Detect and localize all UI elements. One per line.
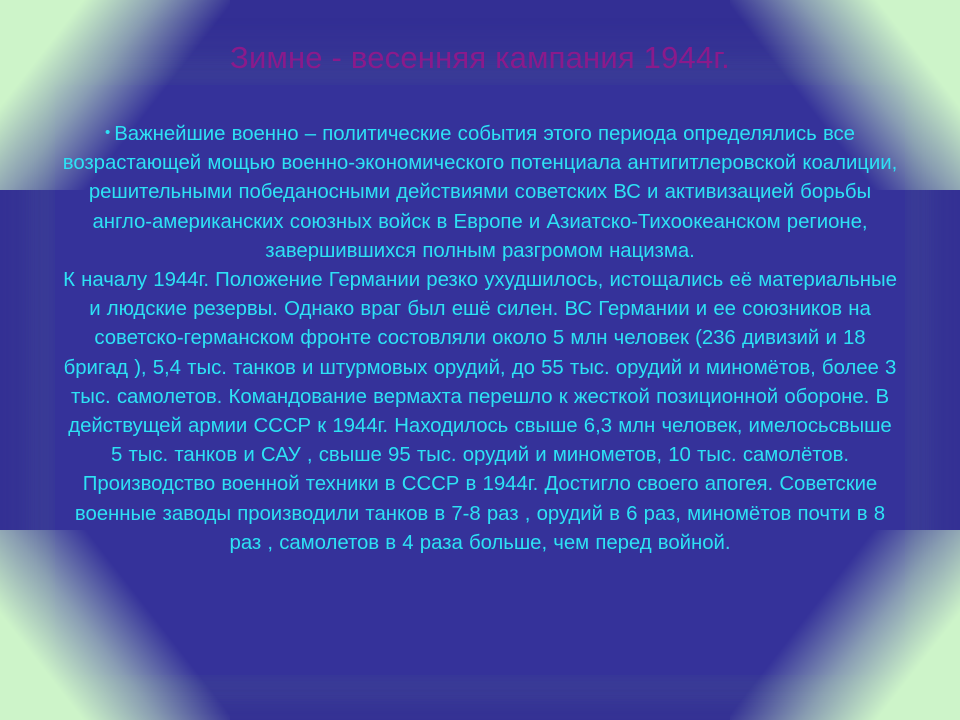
slide-title: Зимне - весенняя кампания 1944г. <box>230 39 730 77</box>
bullet-icon: • <box>105 124 114 141</box>
title-placeholder: Зимне - весенняя кампания 1944г. <box>0 30 960 86</box>
body-paragraph-bulleted: •Важнейшие военно – политические события… <box>62 118 898 266</box>
body-paragraph-2: К началу 1944г. Положение Германии резко… <box>62 266 898 558</box>
body-placeholder: •Важнейшие военно – политические события… <box>62 118 898 666</box>
body-paragraph-1-text: Важнейшие военно – политические события … <box>63 123 897 262</box>
presentation-slide: Зимне - весенняя кампания 1944г. •Важней… <box>0 0 960 720</box>
